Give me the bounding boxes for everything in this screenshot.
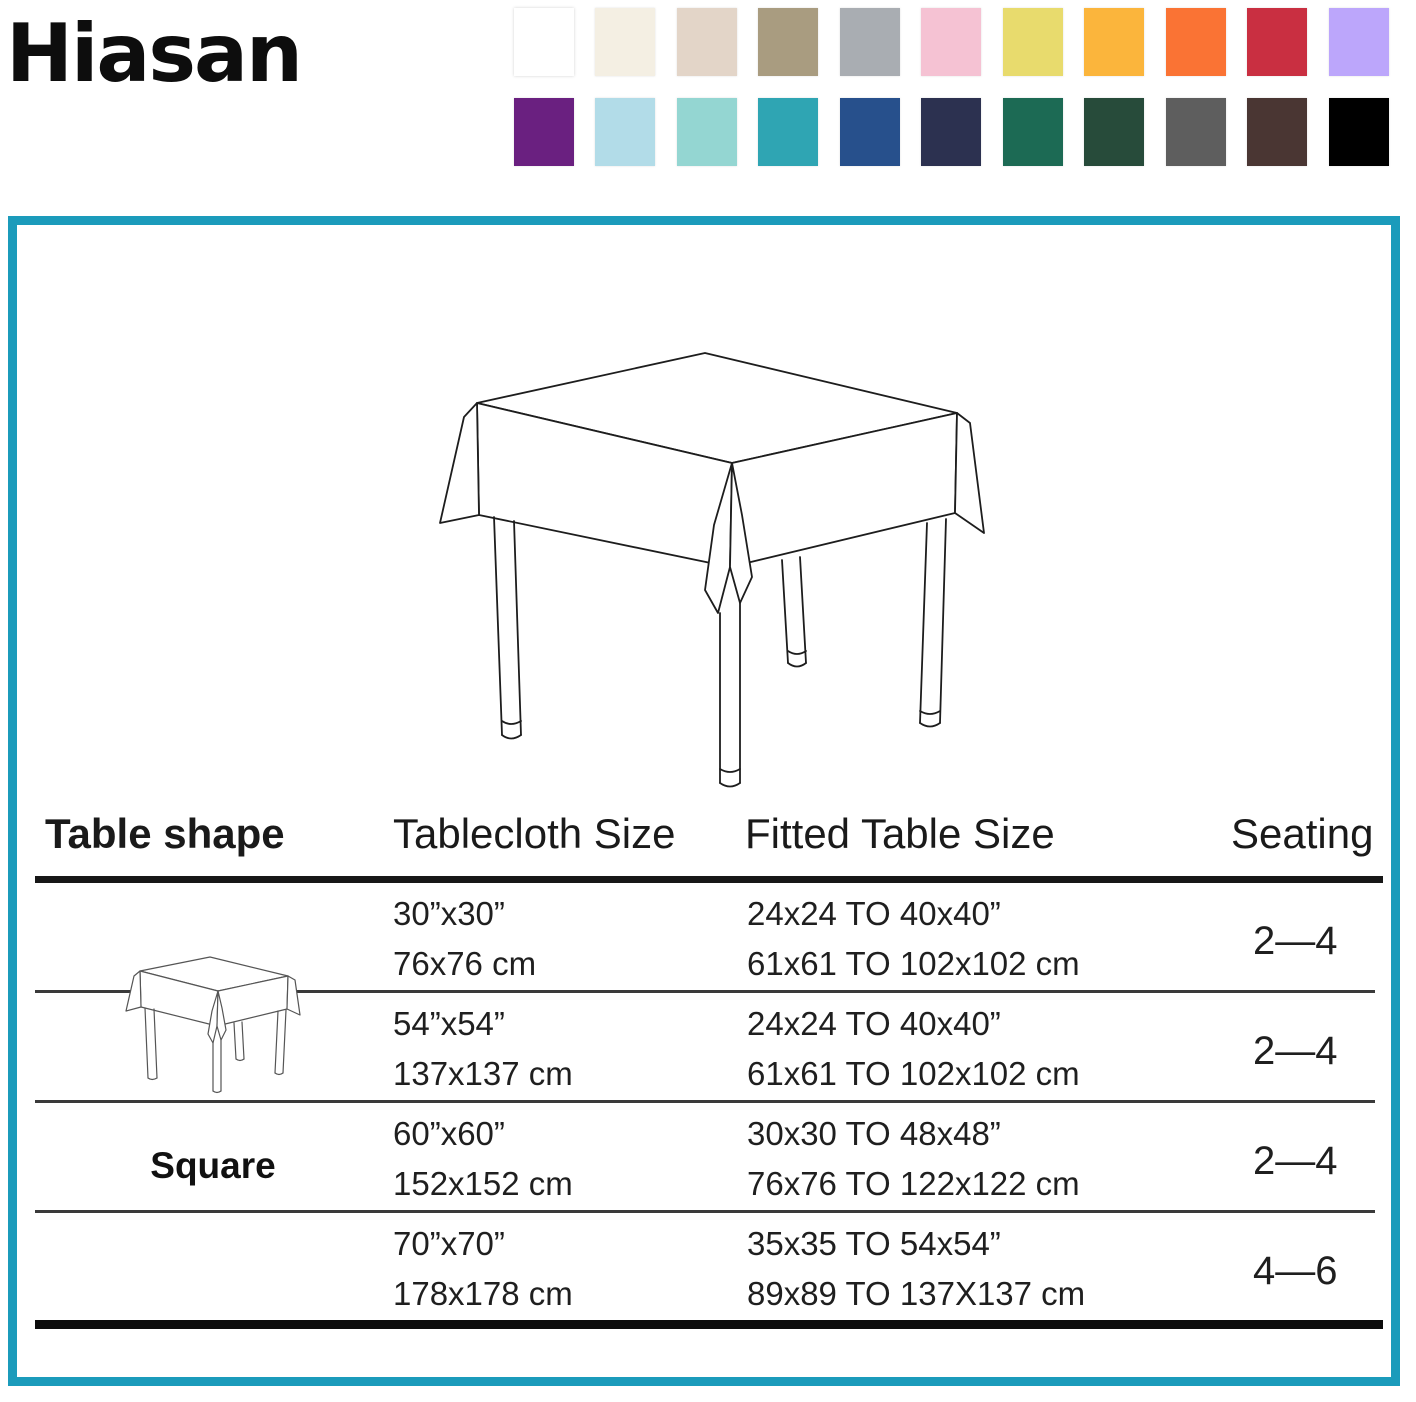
swatch-chip xyxy=(514,98,574,166)
swatch-teal[interactable] xyxy=(758,98,839,176)
cell-cloth-cm: 76x76 cm xyxy=(393,945,536,983)
swatch-row-2 xyxy=(514,98,1410,176)
cell-cloth-inches: 54”x54” xyxy=(393,1005,505,1043)
swatch-row-1 xyxy=(514,8,1410,86)
swatch-dark-gray[interactable] xyxy=(1166,98,1247,176)
swatch-chip xyxy=(1003,8,1063,76)
table-row: 54”x54” 137x137 cm 24x24 TO 40x40” 61x61… xyxy=(35,993,1383,1100)
swatch-yellow[interactable] xyxy=(1003,8,1084,86)
swatch-light-blue[interactable] xyxy=(595,98,676,176)
cell-cloth-cm: 152x152 cm xyxy=(393,1165,573,1203)
swatch-chip xyxy=(595,98,655,166)
swatch-chip xyxy=(1084,98,1144,166)
table-bottom-rule xyxy=(35,1320,1383,1329)
header-table-shape: Table shape xyxy=(45,810,285,858)
header-divider xyxy=(35,876,1383,883)
color-swatch-grid xyxy=(514,8,1410,176)
swatch-chip xyxy=(1003,98,1063,166)
swatch-purple[interactable] xyxy=(514,98,595,176)
size-table: Table shape Tablecloth Size Fitted Table… xyxy=(35,810,1383,1329)
swatch-chip xyxy=(677,8,737,76)
cell-fitted-inches: 24x24 TO 40x40” xyxy=(747,895,1001,933)
swatch-chip xyxy=(840,8,900,76)
swatch-chip xyxy=(921,98,981,166)
swatch-navy[interactable] xyxy=(840,98,921,176)
swatch-dark-brown[interactable] xyxy=(1247,98,1328,176)
cell-cloth-inches: 70”x70” xyxy=(393,1225,505,1263)
swatch-chip xyxy=(758,8,818,76)
swatch-chip xyxy=(1329,8,1389,76)
cell-fitted-inches: 24x24 TO 40x40” xyxy=(747,1005,1001,1043)
cell-cloth-inches: 30”x30” xyxy=(393,895,505,933)
header-seating: Seating xyxy=(1231,810,1373,858)
table-body: Square 30”x30” 76x76 cm 24x24 TO 40x40” … xyxy=(35,883,1383,1329)
swatch-khaki[interactable] xyxy=(758,8,839,86)
swatch-black[interactable] xyxy=(1329,98,1410,176)
swatch-marigold[interactable] xyxy=(1084,8,1165,86)
table-row: 60”x60” 152x152 cm 30x30 TO 48x48” 76x76… xyxy=(35,1103,1383,1210)
header-band: Hiasan xyxy=(0,0,1416,200)
header-tablecloth-size: Tablecloth Size xyxy=(393,810,676,858)
swatch-beige[interactable] xyxy=(677,8,758,86)
swatch-white[interactable] xyxy=(514,8,595,86)
cell-seating: 2—4 xyxy=(1253,1139,1338,1184)
swatch-lavender[interactable] xyxy=(1329,8,1410,86)
cell-seating: 4—6 xyxy=(1253,1249,1338,1294)
swatch-dark-navy[interactable] xyxy=(921,98,1002,176)
cell-fitted-cm: 61x61 TO 102x102 cm xyxy=(747,945,1080,983)
cell-fitted-cm: 61x61 TO 102x102 cm xyxy=(747,1055,1080,1093)
swatch-chip xyxy=(758,98,818,166)
cell-fitted-cm: 89x89 TO 137X137 cm xyxy=(747,1275,1085,1313)
swatch-chip xyxy=(1166,98,1226,166)
swatch-chip xyxy=(1166,8,1226,76)
size-chart-panel: Table shape Tablecloth Size Fitted Table… xyxy=(8,216,1400,1386)
table-row: 30”x30” 76x76 cm 24x24 TO 40x40” 61x61 T… xyxy=(35,883,1383,990)
table-row: 70”x70” 178x178 cm 35x35 TO 54x54” 89x89… xyxy=(35,1213,1383,1320)
cell-seating: 2—4 xyxy=(1253,919,1338,964)
cell-seating: 2—4 xyxy=(1253,1029,1338,1074)
cell-fitted-cm: 76x76 TO 122x122 cm xyxy=(747,1165,1080,1203)
swatch-chip xyxy=(1247,98,1307,166)
swatch-chip xyxy=(921,8,981,76)
cell-cloth-inches: 60”x60” xyxy=(393,1115,505,1153)
swatch-chip xyxy=(595,8,655,76)
swatch-hunter-green[interactable] xyxy=(1084,98,1165,176)
cell-cloth-cm: 178x178 cm xyxy=(393,1275,573,1313)
swatch-chip xyxy=(1084,8,1144,76)
swatch-aqua[interactable] xyxy=(677,98,758,176)
swatch-ivory[interactable] xyxy=(595,8,676,86)
swatch-pink[interactable] xyxy=(921,8,1002,86)
swatch-orange[interactable] xyxy=(1166,8,1247,86)
swatch-chip xyxy=(677,98,737,166)
header-fitted-table-size: Fitted Table Size xyxy=(745,810,1055,858)
swatch-chip xyxy=(514,8,574,76)
swatch-chip xyxy=(840,98,900,166)
swatch-chip xyxy=(1247,8,1307,76)
cell-cloth-cm: 137x137 cm xyxy=(393,1055,573,1093)
swatch-red[interactable] xyxy=(1247,8,1328,86)
cell-fitted-inches: 30x30 TO 48x48” xyxy=(747,1115,1001,1153)
swatch-gray[interactable] xyxy=(840,8,921,86)
swatch-emerald[interactable] xyxy=(1003,98,1084,176)
table-header-row: Table shape Tablecloth Size Fitted Table… xyxy=(35,810,1383,872)
cell-fitted-inches: 35x35 TO 54x54” xyxy=(747,1225,1001,1263)
swatch-chip xyxy=(1329,98,1389,166)
brand-logo: Hiasan xyxy=(6,14,301,94)
square-table-illustration xyxy=(422,345,1012,805)
